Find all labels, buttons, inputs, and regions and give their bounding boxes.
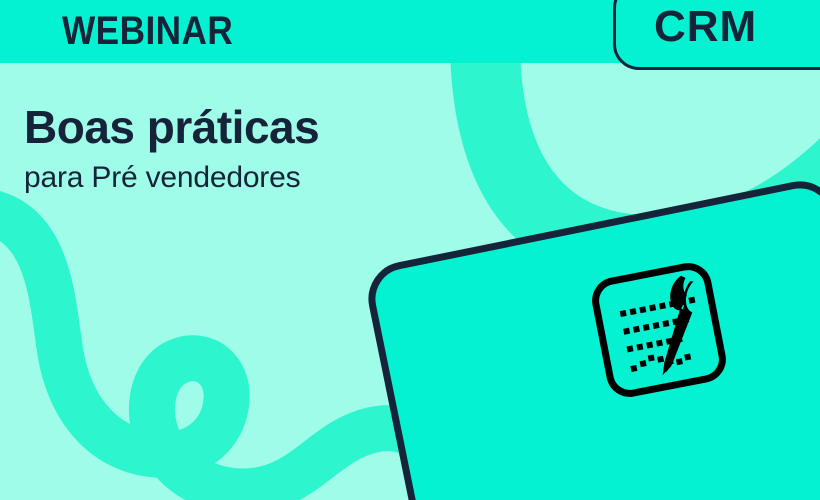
note-frame [592,263,726,397]
headline-title: Boas práticas [24,100,444,154]
crm-badge: CRM [613,0,820,70]
webinar-banner: WEBINAR CRM Boas práticas para Pré vende… [0,0,820,500]
webinar-eyebrow-label: WEBINAR [62,3,233,59]
tilted-card-shape [366,179,820,500]
headline-block: Boas práticas para Pré vendedores [24,100,444,198]
crm-badge-label: CRM [654,1,757,53]
note-pen-icon [585,256,733,404]
tilted-card-layer [0,0,820,500]
headline-subtitle: para Pré vendedores [24,158,444,198]
